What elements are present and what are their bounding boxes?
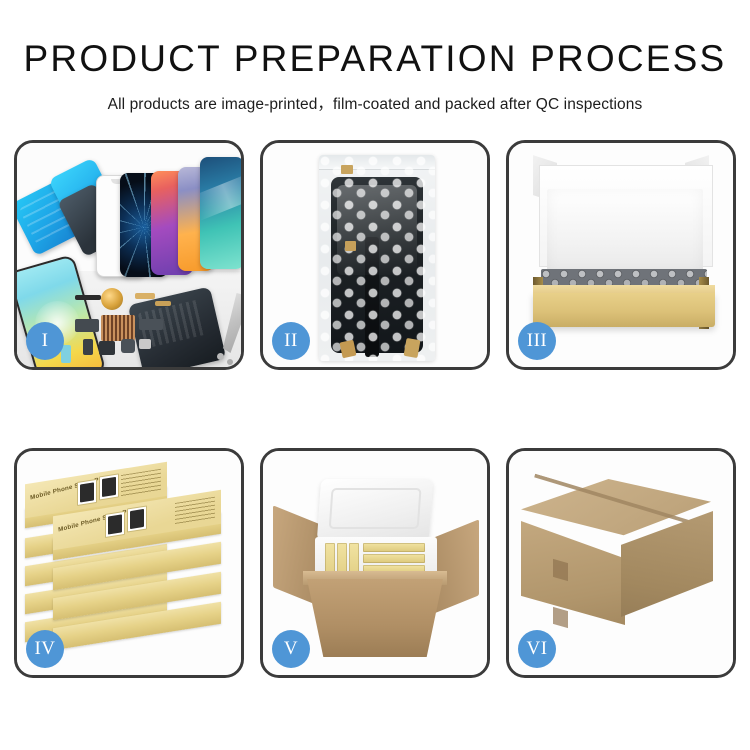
process-step-grid: I II: [14, 140, 736, 680]
gold-flex-icon: [135, 293, 155, 299]
step-badge-2: II: [272, 322, 310, 360]
foam-lid-icon: [317, 479, 433, 541]
screw-icon: [227, 359, 233, 365]
step-badge-1: I: [26, 322, 64, 360]
process-step-panel-3: III: [506, 140, 736, 370]
retail-box-icon: [363, 543, 425, 552]
box-print-textlines: [175, 497, 215, 525]
box-print-thumbnail: [77, 479, 97, 506]
vibrator-icon: [83, 339, 93, 355]
bubble-texture: [319, 155, 435, 361]
speaker-icon: [99, 341, 115, 355]
chip-icon: [121, 339, 135, 353]
box-print-thumbnail: [105, 511, 125, 538]
foam-sheet-icon: [547, 189, 703, 273]
camera-module-icon: [75, 319, 99, 332]
header: PRODUCT PREPARATION PROCESS All products…: [0, 0, 750, 128]
tape-piece-icon: [339, 340, 356, 359]
box-print-textlines: [121, 469, 161, 497]
page-title: PRODUCT PREPARATION PROCESS: [0, 0, 750, 79]
outer-carton-icon: [307, 579, 443, 657]
ribbon-cable-icon: [139, 319, 163, 330]
box-print-thumbnail: [99, 473, 119, 500]
retail-box-icon: [363, 554, 425, 563]
process-step-panel-1: I: [14, 140, 244, 370]
connector-board-icon: [101, 315, 135, 341]
box-print-thumbnail: [127, 505, 147, 532]
kraft-box-front-icon: [533, 293, 715, 327]
process-step-panel-5: V: [260, 448, 490, 678]
teal-display-icon: [200, 157, 241, 269]
step-badge-3: III: [518, 322, 556, 360]
sim-tray-icon: [139, 339, 151, 349]
page-subtitle: All products are image-printed，film-coat…: [0, 79, 750, 114]
process-step-panel-6: VI: [506, 448, 736, 678]
gold-flex-small-icon: [155, 301, 171, 306]
tape-piece-icon: [345, 241, 356, 251]
step-badge-6: VI: [518, 630, 556, 668]
process-step-panel-2: II: [260, 140, 490, 370]
bubble-wrap-bag-icon: [319, 155, 435, 361]
tape-piece-icon: [341, 165, 353, 174]
step-badge-5: V: [272, 630, 310, 668]
flex-cable-icon: [75, 295, 101, 300]
step-badge-4: IV: [26, 630, 64, 668]
screw-icon: [217, 353, 224, 360]
speaker-module-icon: [101, 288, 123, 310]
process-step-panel-4: Mobile Phone Spare Parts Mobile Phone Sp…: [14, 448, 244, 678]
